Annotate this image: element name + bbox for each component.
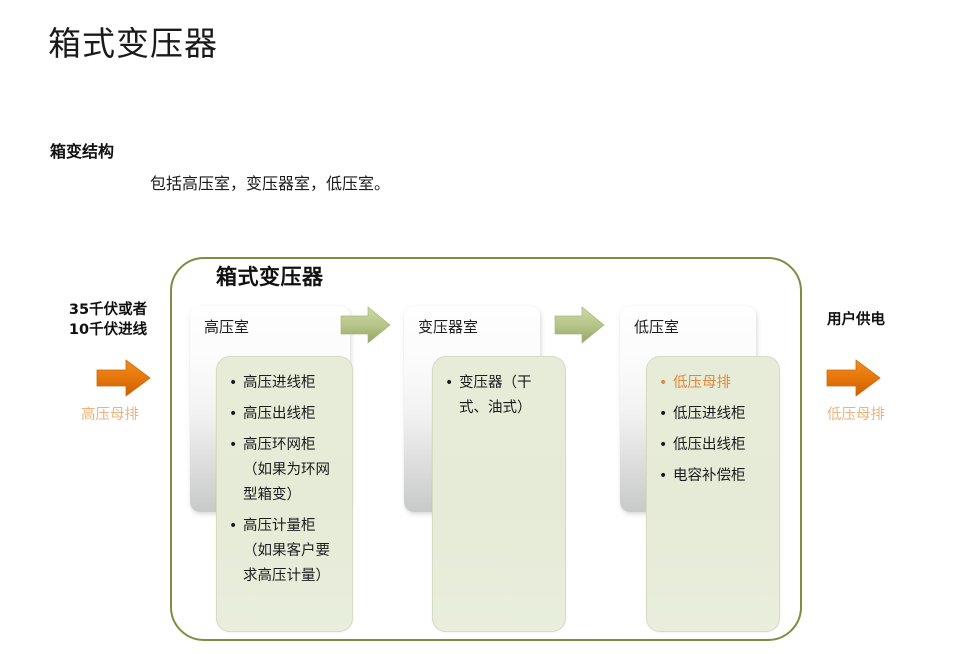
list-item: 高压出线柜 — [227, 402, 342, 427]
section-body-text: 包括高压室，变压器室，低压室。 — [150, 172, 390, 196]
outlet-label: 用户供电 — [800, 310, 912, 330]
inlet-label: 35千伏或者 10千伏进线 — [48, 300, 168, 340]
equipment-list-low-voltage: 低压母排 低压进线柜 低压出线柜 电容补偿柜 — [646, 356, 780, 632]
inlet-arrow-icon — [96, 357, 152, 399]
list-item: 高压计量柜（如果客户要求高压计量） — [227, 514, 342, 589]
room-label: 变压器室 — [418, 316, 478, 338]
bullet-list: 高压进线柜 高压出线柜 高压环网柜（如果为环网型箱变） 高压计量柜（如果客户要求… — [227, 371, 342, 589]
list-item: 高压进线柜 — [227, 371, 342, 396]
outlet-arrow-icon — [826, 357, 882, 399]
inlet-bus-label: 高压母排 — [52, 405, 168, 425]
outlet-bus-label: 低压母排 — [798, 405, 914, 425]
diagram-title: 箱式变压器 — [216, 262, 324, 292]
page-title: 箱式变压器 — [48, 22, 218, 66]
equipment-list-high-voltage: 高压进线柜 高压出线柜 高压环网柜（如果为环网型箱变） 高压计量柜（如果客户要求… — [216, 356, 353, 632]
equipment-list-transformer: 变压器（干式、油式） — [432, 356, 566, 632]
list-item: 低压出线柜 — [657, 433, 769, 458]
room-label: 高压室 — [204, 316, 249, 338]
list-item: 电容补偿柜 — [657, 464, 769, 489]
list-item: 高压环网柜（如果为环网型箱变） — [227, 433, 342, 508]
bullet-list: 低压母排 低压进线柜 低压出线柜 电容补偿柜 — [657, 371, 769, 489]
list-item: 低压进线柜 — [657, 402, 769, 427]
flow-arrow-icon — [554, 304, 606, 346]
list-item: 低压母排 — [657, 371, 769, 396]
section-heading: 箱变结构 — [50, 141, 114, 163]
room-label: 低压室 — [634, 316, 679, 338]
list-item: 变压器（干式、油式） — [443, 371, 555, 421]
bullet-list: 变压器（干式、油式） — [443, 371, 555, 421]
flow-arrow-icon — [340, 304, 392, 346]
